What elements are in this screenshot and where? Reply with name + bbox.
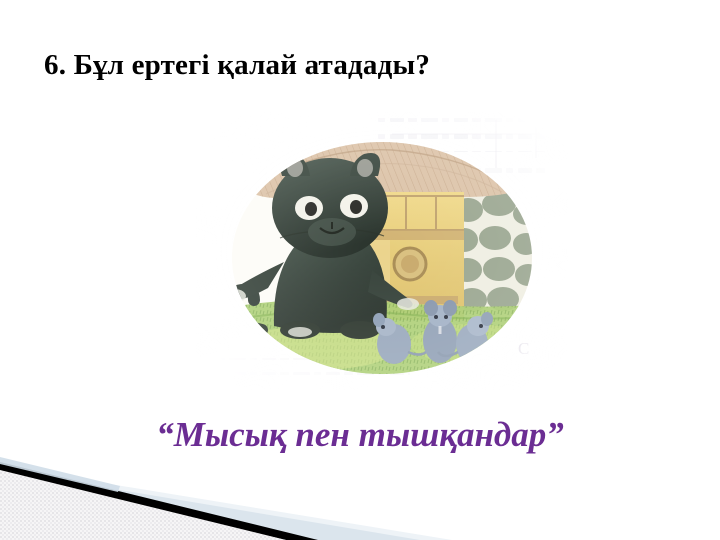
- stripe-highlight: [0, 457, 120, 492]
- page-title: 6. Бұл ертегі қалай атадады?: [44, 48, 684, 82]
- answer-text: “Мысық пен тышқандар”: [0, 413, 720, 457]
- pale-blue-wedge: [0, 466, 452, 540]
- light-blue-band: [0, 470, 420, 540]
- textured-triangle: [0, 470, 286, 540]
- illustration-container: C: [196, 112, 568, 390]
- dark-stripe: [0, 462, 318, 540]
- fairy-tale-illustration-image: C: [196, 112, 568, 390]
- slide-canvas: 6. Бұл ертегі қалай атадады?: [0, 0, 720, 540]
